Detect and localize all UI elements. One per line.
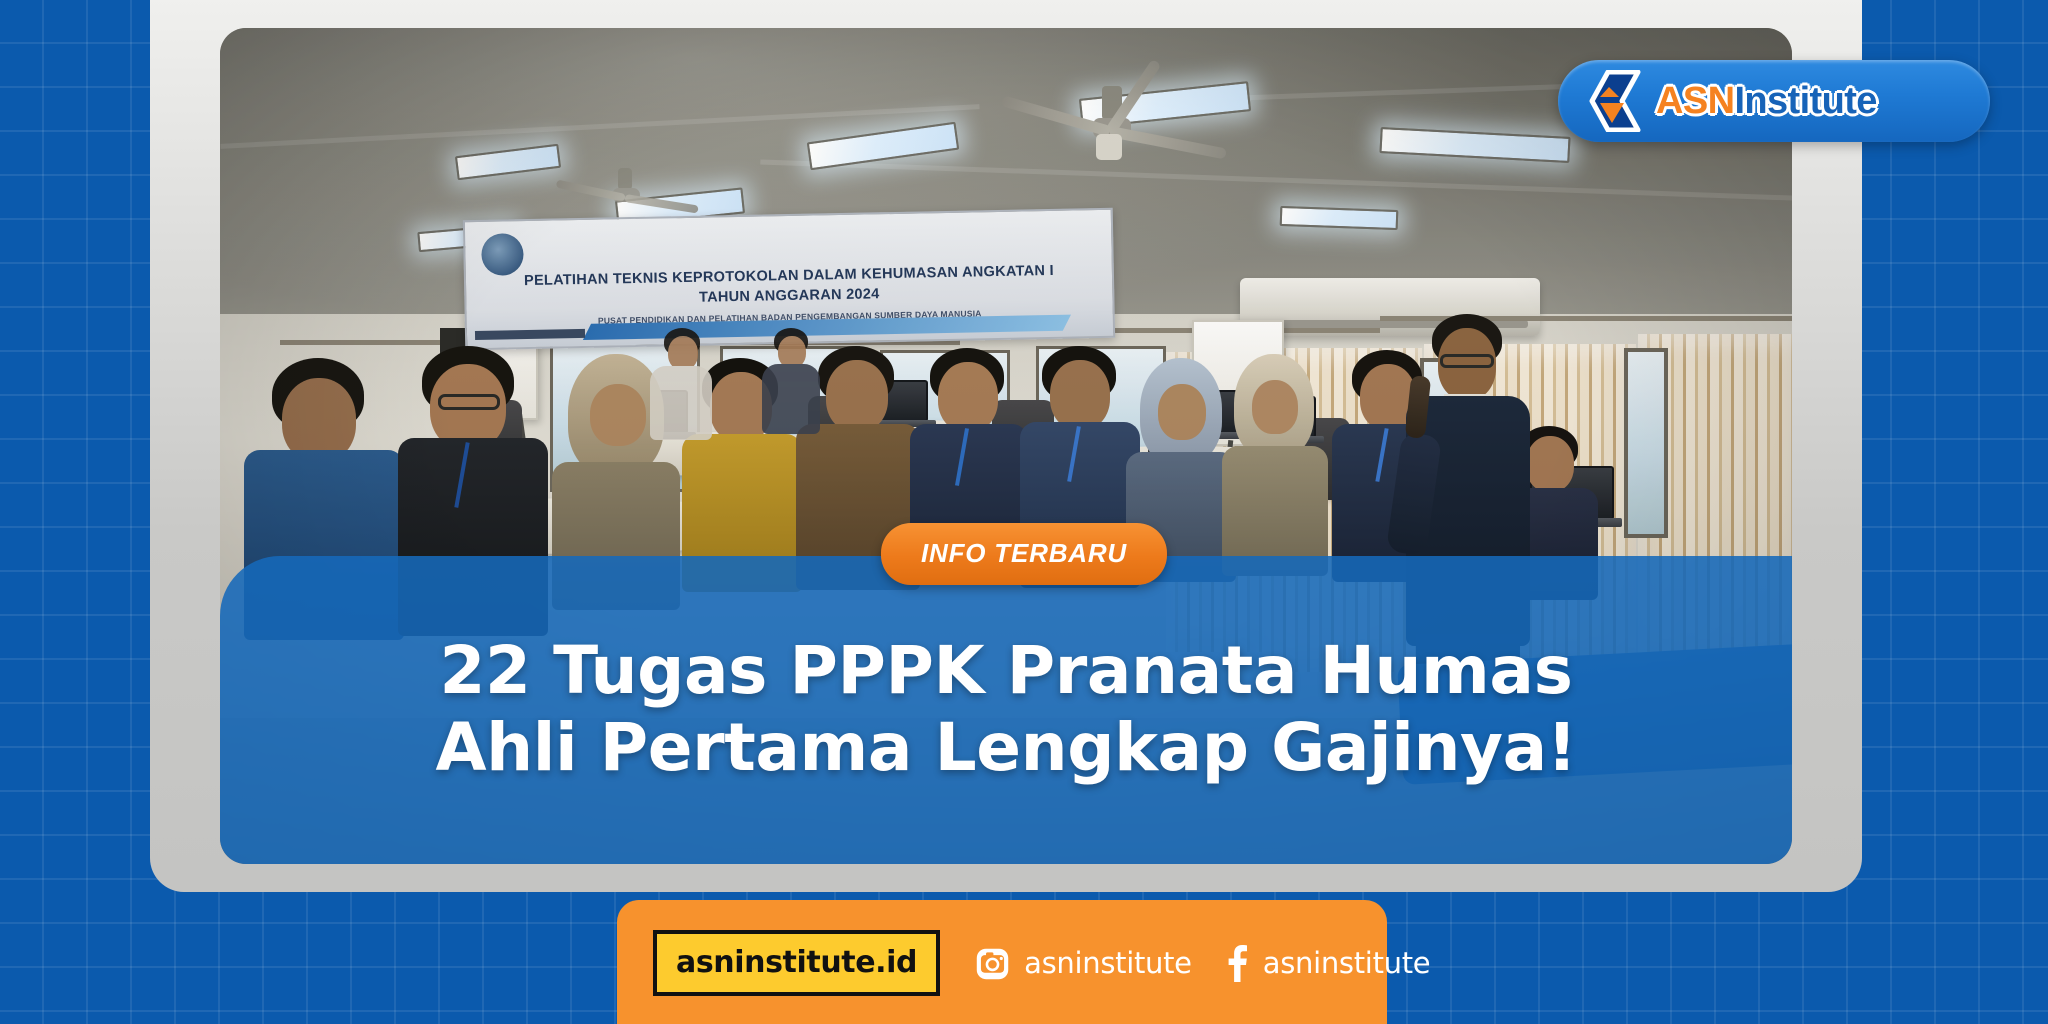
asn-hexagon-arrow-mark: [1588, 70, 1642, 132]
social-facebook[interactable]: asninstitute: [1226, 944, 1431, 982]
title-line-1: 22 Tugas PPPK Pranata Humas: [440, 633, 1573, 710]
facebook-icon: [1226, 944, 1250, 982]
facebook-handle: asninstitute: [1263, 946, 1431, 980]
footer-bar: asninstitute.id asninstitute asninstitut…: [617, 900, 1387, 1024]
info-terbaru-badge[interactable]: INFO TERBARU: [881, 523, 1167, 585]
instagram-icon: [974, 945, 1011, 982]
instagram-handle: asninstitute: [1024, 946, 1192, 980]
asn-institute-logo[interactable]: ASNInstitute: [1558, 60, 1990, 142]
social-instagram[interactable]: asninstitute: [974, 945, 1192, 982]
asn-institute-wordmark: ASNInstitute: [1656, 80, 1877, 123]
logo-text-asn: ASN: [1656, 80, 1734, 122]
title-line-2: Ahli Pertama Lengkap Gajinya!: [435, 710, 1576, 787]
website-chip[interactable]: asninstitute.id: [653, 930, 940, 996]
title-panel: 22 Tugas PPPK Pranata Humas Ahli Pertama…: [220, 556, 1792, 864]
logo-text-institute: Institute: [1734, 80, 1876, 122]
